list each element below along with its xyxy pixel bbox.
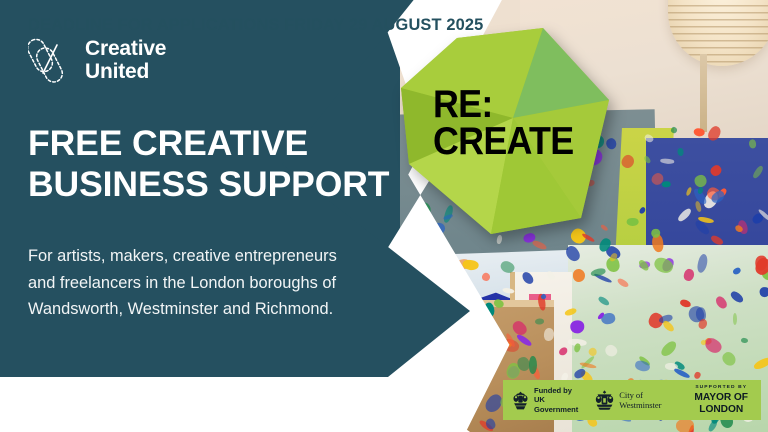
recreate-badge-label: RE: CREATE bbox=[433, 86, 573, 160]
royal-crest-icon bbox=[512, 391, 529, 410]
creative-united-wordmark: Creative United bbox=[85, 38, 166, 83]
recreate-campaign-banner: Creative United FREE CREATIVE BUSINESS S… bbox=[0, 0, 768, 432]
funder-uk-government-label: Funded by UK Government bbox=[534, 386, 578, 414]
paperclip-logo-icon bbox=[28, 33, 74, 89]
funder-uk-government: Funded by UK Government bbox=[512, 386, 578, 414]
banner-content: Creative United FREE CREATIVE BUSINESS S… bbox=[0, 0, 768, 432]
creative-united-logo[interactable]: Creative United bbox=[28, 33, 166, 89]
deadline-bar bbox=[0, 377, 470, 432]
funders-bar: Funded by UK Government bbox=[503, 380, 761, 420]
deadline-text: DEADLINE FOR APPLICATIONS FRIDAY 29 AUGU… bbox=[28, 16, 483, 35]
eligibility-description: For artists, makers, creative entreprene… bbox=[28, 243, 400, 323]
mayor-of-london-logo: SUPPORTED BY MAYOR OF LONDON bbox=[681, 385, 761, 415]
recreate-badge[interactable]: RE: CREATE bbox=[395, 22, 623, 240]
funder-city-of-westminster: City of Westminster bbox=[595, 390, 661, 410]
westminster-crest-icon bbox=[595, 390, 614, 410]
funder-westminster-label: City of Westminster bbox=[619, 390, 661, 410]
mayor-of-london-label: MAYOR OF LONDON bbox=[681, 392, 761, 414]
page-title: FREE CREATIVE BUSINESS SUPPORT bbox=[28, 123, 428, 205]
mayor-supported-by-label: SUPPORTED BY bbox=[681, 385, 761, 390]
